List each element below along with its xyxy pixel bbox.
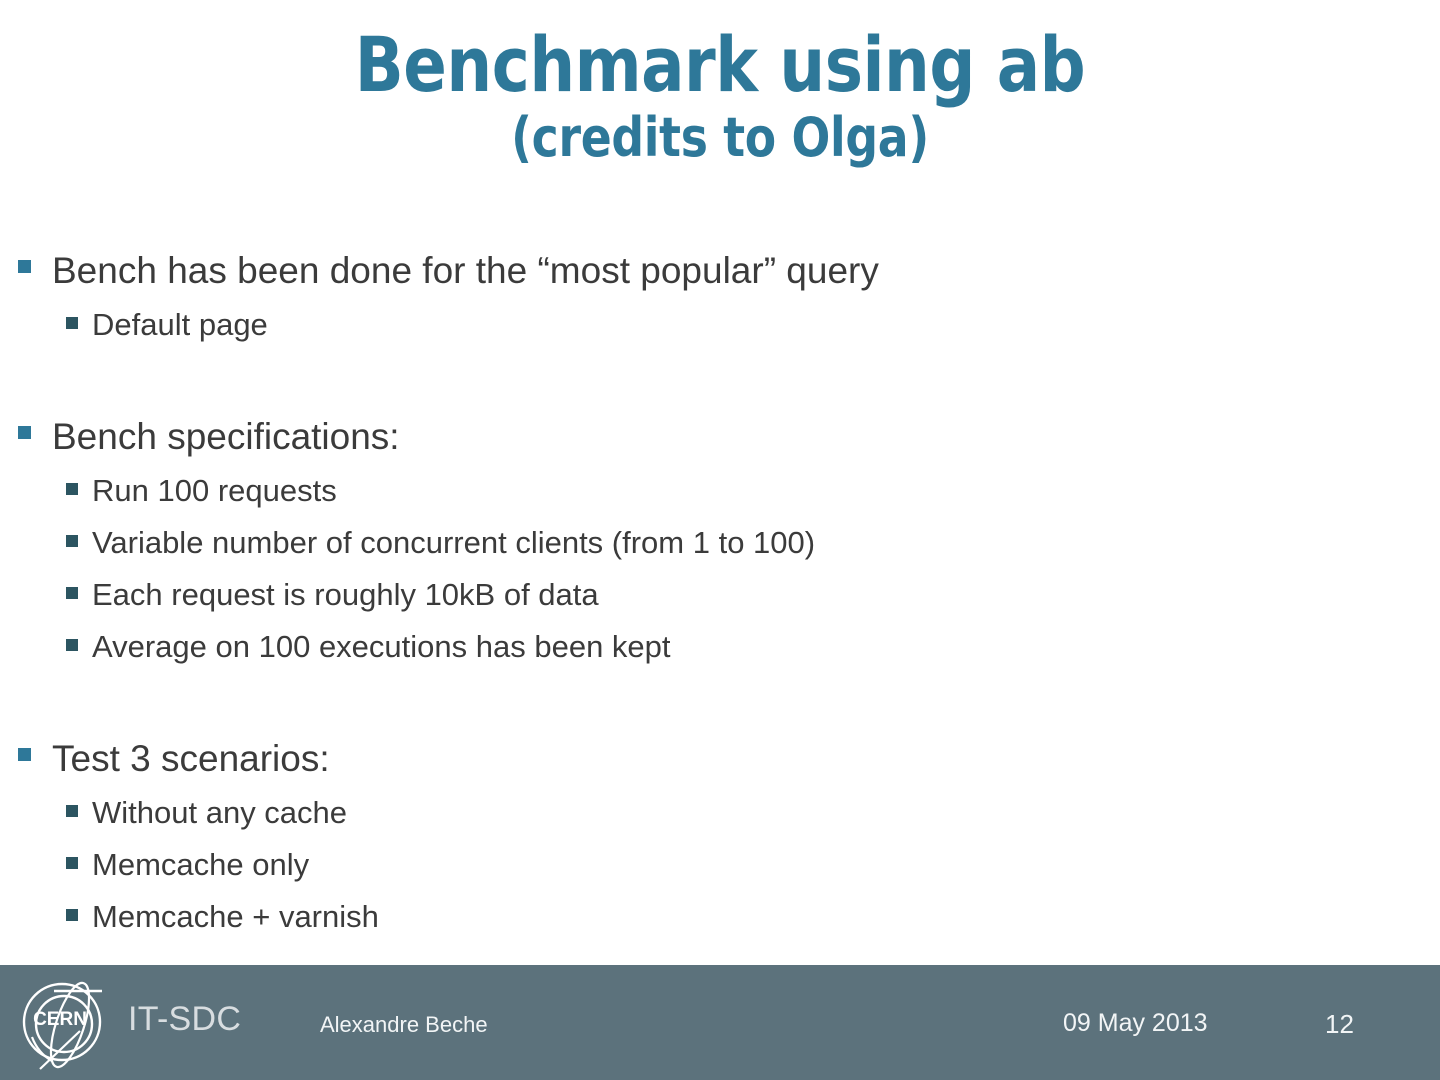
list-item-label: Average on 100 executions has been kept [92, 621, 1440, 673]
page-title: Benchmark using ab [43, 28, 1397, 102]
list-item-label: Run 100 requests [92, 465, 1440, 517]
list-item-label: Default page [92, 299, 1440, 351]
bullet-square-icon [66, 857, 78, 869]
list-item: Test 3 scenarios: [0, 731, 1440, 786]
bullet-square-icon [18, 748, 31, 761]
list-item-label: Without any cache [92, 787, 1440, 839]
footer-page-number: 12 [1325, 1009, 1354, 1040]
list-item-label: Bench has been done for the “most popula… [52, 243, 1440, 298]
svg-text:CERN: CERN [33, 1009, 87, 1030]
list-item-label: Memcache only [92, 839, 1440, 891]
list-item: Memcache + varnish [0, 891, 1440, 943]
footer-department: IT-SDC [128, 1000, 241, 1039]
list-item-label: Test 3 scenarios: [52, 731, 1440, 786]
bullet-square-icon [66, 805, 78, 817]
list-item-label: Variable number of concurrent clients (f… [92, 517, 1440, 569]
list-item: Average on 100 executions has been kept [0, 621, 1440, 673]
list-item-label: Each request is roughly 10kB of data [92, 569, 1440, 621]
list-item: Memcache only [0, 839, 1440, 891]
list-item: Variable number of concurrent clients (f… [0, 517, 1440, 569]
slide-title-block: Benchmark using ab (credits to Olga) [0, 28, 1440, 169]
list-item: Each request is roughly 10kB of data [0, 569, 1440, 621]
bullet-square-icon [66, 587, 78, 599]
slide-footer: CERN IT-SDC Alexandre Beche 09 May 2013 … [0, 965, 1440, 1080]
group-spacer [0, 351, 1440, 409]
list-item: Run 100 requests [0, 465, 1440, 517]
bullet-square-icon [66, 639, 78, 651]
list-item: Bench specifications: [0, 409, 1440, 464]
bullet-square-icon [18, 426, 31, 439]
footer-date: 09 May 2013 [1063, 1009, 1208, 1038]
group-spacer [0, 673, 1440, 731]
list-item-label: Bench specifications: [52, 409, 1440, 464]
list-item: Default page [0, 299, 1440, 351]
bullet-square-icon [66, 909, 78, 921]
list-item-label: Memcache + varnish [92, 891, 1440, 943]
list-item: Without any cache [0, 787, 1440, 839]
bullet-square-icon [66, 317, 78, 329]
bullet-square-icon [18, 260, 31, 273]
page-subtitle: (credits to Olga) [43, 108, 1397, 168]
bullet-square-icon [66, 483, 78, 495]
bullet-square-icon [66, 535, 78, 547]
cern-logo-icon: CERN [18, 977, 110, 1073]
bullet-list: Bench has been done for the “most popula… [0, 243, 1440, 943]
footer-author: Alexandre Beche [320, 1012, 488, 1038]
list-item: Bench has been done for the “most popula… [0, 243, 1440, 298]
slide: Benchmark using ab (credits to Olga) Ben… [0, 0, 1440, 1080]
